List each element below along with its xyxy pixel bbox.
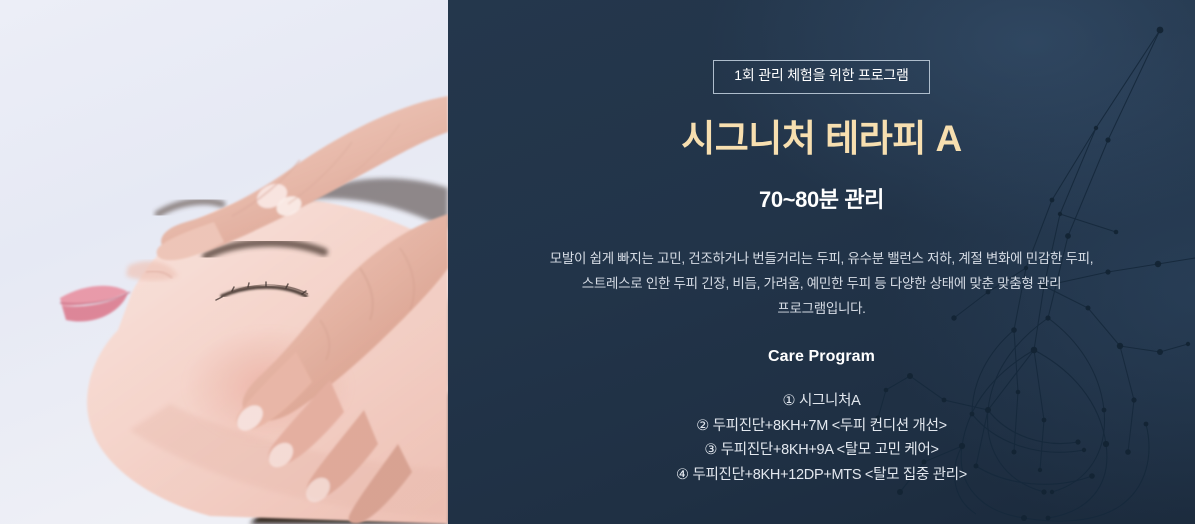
program-badge: 1회 관리 체험을 위한 프로그램 bbox=[713, 60, 930, 94]
description-line: 스트레스로 인한 두피 긴장, 비듬, 가려움, 예민한 두피 등 다양한 상태… bbox=[550, 271, 1093, 296]
list-item: ③ 두피진단+8KH+9A <탈모 고민 케어> bbox=[676, 438, 967, 463]
care-program-heading: Care Program bbox=[768, 348, 875, 366]
content-panel: 1회 관리 체험을 위한 프로그램 시그니처 테라피 A 70~80분 관리 모… bbox=[448, 0, 1195, 524]
list-item: ④ 두피진단+8KH+12DP+MTS <탈모 집중 관리> bbox=[676, 463, 967, 488]
list-item: ① 시그니처A bbox=[676, 389, 967, 414]
treatment-photo bbox=[0, 0, 448, 524]
promo-banner: 1회 관리 체험을 위한 프로그램 시그니처 테라피 A 70~80분 관리 모… bbox=[0, 0, 1195, 524]
list-item: ② 두피진단+8KH+7M <두피 컨디션 개선> bbox=[676, 414, 967, 439]
page-title: 시그니처 테라피 A bbox=[681, 118, 962, 161]
care-program-list: ① 시그니처A ② 두피진단+8KH+7M <두피 컨디션 개선> ③ 두피진단… bbox=[676, 389, 967, 487]
duration-subtitle: 70~80분 관리 bbox=[759, 182, 884, 214]
text-stack: 1회 관리 체험을 위한 프로그램 시그니처 테라피 A 70~80분 관리 모… bbox=[448, 0, 1195, 524]
program-description: 모발이 쉽게 빠지는 고민, 건조하거나 번들거리는 두피, 유수분 밸런스 저… bbox=[550, 246, 1093, 321]
description-line: 모발이 쉽게 빠지는 고민, 건조하거나 번들거리는 두피, 유수분 밸런스 저… bbox=[550, 246, 1093, 271]
description-line: 프로그램입니다. bbox=[550, 296, 1093, 321]
photo-illustration bbox=[0, 0, 448, 524]
